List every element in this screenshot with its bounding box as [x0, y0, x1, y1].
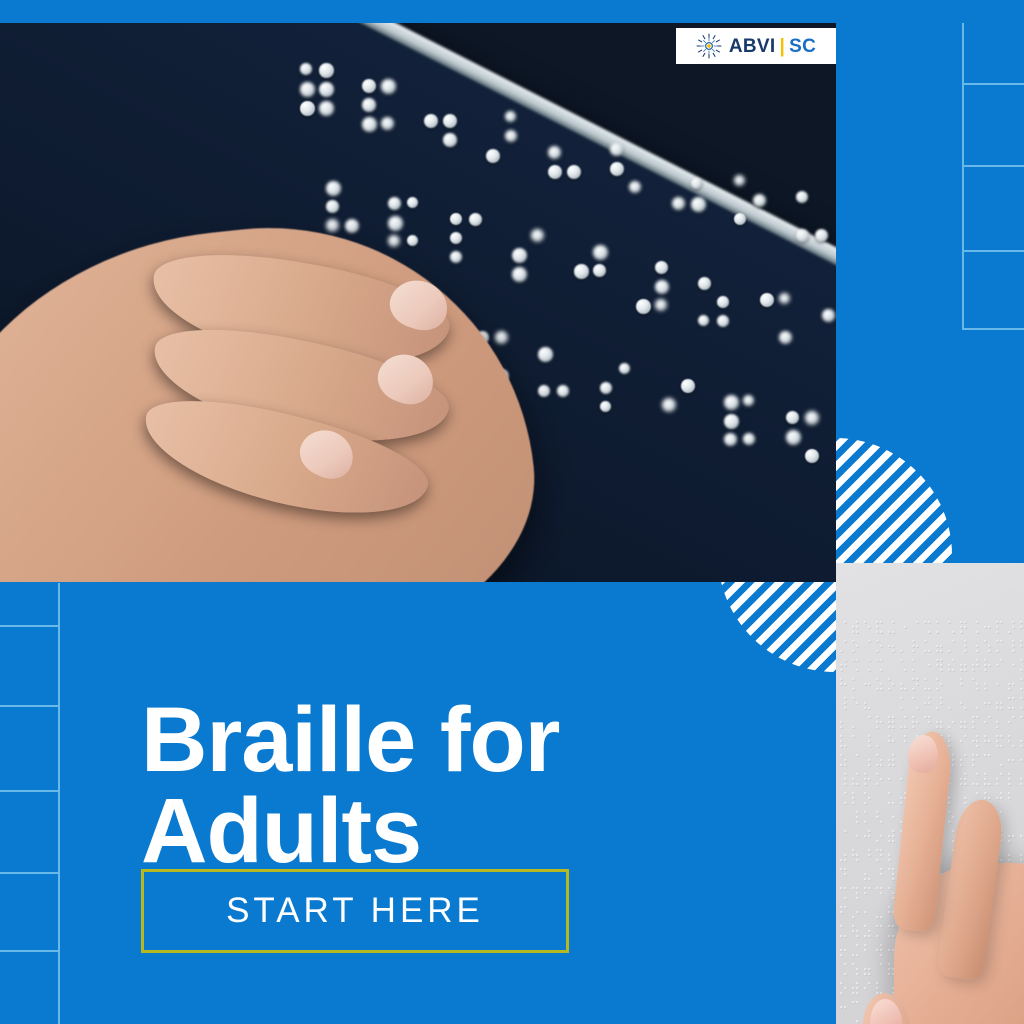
logo-wordmark: ABVI|SC — [729, 37, 816, 56]
grid-lines-right — [962, 0, 1024, 330]
grid-line-horizontal — [962, 250, 1024, 252]
grid-line-horizontal — [962, 83, 1024, 85]
hero-photo — [0, 23, 836, 582]
grid-line-horizontal — [0, 790, 60, 792]
abvi-sc-logo[interactable]: ABVI|SC — [676, 28, 836, 64]
logo-divider: | — [775, 36, 789, 57]
grid-line-horizontal — [0, 950, 60, 952]
grid-line-horizontal — [962, 328, 1024, 330]
page-title: Braille for Adults — [141, 695, 801, 877]
top-blue-strip — [0, 0, 1024, 23]
start-here-button[interactable]: START HERE — [141, 869, 569, 953]
grid-line-horizontal — [0, 625, 60, 627]
logo-text-abvi: ABVI — [729, 36, 776, 57]
sunburst-eye-icon — [696, 33, 722, 59]
side-photo — [836, 563, 1024, 1024]
grid-line-horizontal — [0, 705, 60, 707]
grid-line-horizontal — [962, 165, 1024, 167]
grid-line-horizontal — [0, 872, 60, 874]
grid-line-vertical — [962, 0, 964, 330]
logo-text-sc: SC — [789, 36, 816, 57]
page-title-line-2: Adults — [141, 786, 801, 877]
poster-canvas: ABVI|SC Braille for Adults START HERE — [0, 0, 1024, 1024]
grid-lines-left — [0, 583, 60, 1024]
grid-line-vertical — [58, 583, 60, 1024]
page-title-line-1: Braille for — [141, 695, 801, 786]
